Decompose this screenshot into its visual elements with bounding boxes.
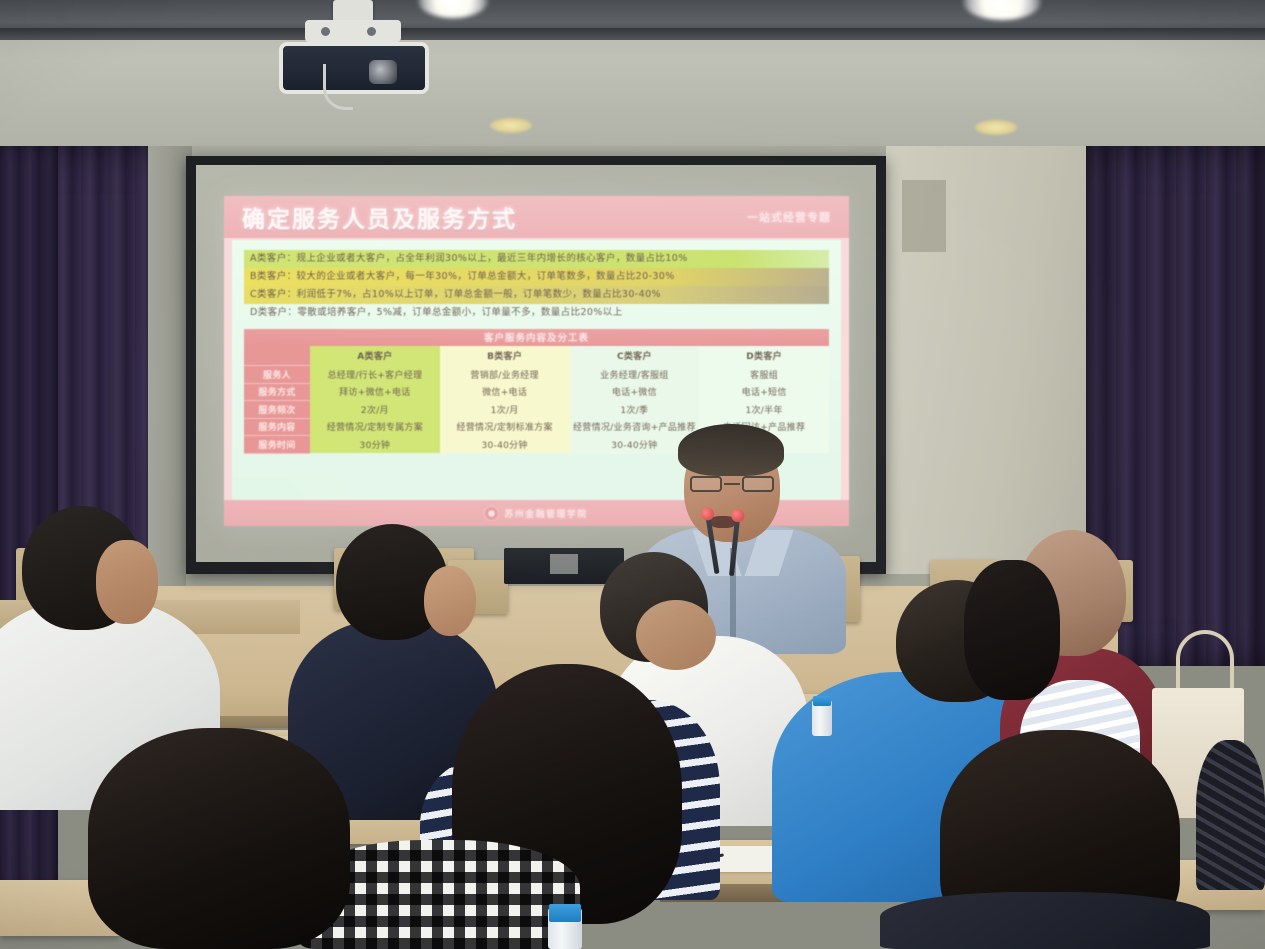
table-row-label: 服务时间	[244, 436, 310, 454]
attendee-white-striped-head	[964, 560, 1060, 700]
attendee-checkered-head	[88, 728, 350, 949]
slide-bullet: A类客户：规上企业或者大客户，占全年利润30%以上，最近三年内增长的核心客户，数…	[244, 250, 829, 268]
slide-bullet: C类客户：利润低于7%，占10%以上订单，订单总金额一般，订单笔数少，数量占比3…	[244, 286, 829, 304]
table-cell: 30-40分钟	[440, 436, 570, 454]
attendee-white-shirt-arm	[636, 600, 716, 670]
table-cell: 经营情况/定制标准方案	[440, 418, 570, 436]
table-cell: 1次/半年	[699, 401, 829, 419]
table-cell: 电话+微信	[570, 383, 700, 401]
projector-body	[279, 42, 429, 94]
table-row-label: 服务方式	[244, 383, 310, 401]
table-cell: 拜访+微信+电话	[310, 383, 440, 401]
table-corner-cell	[244, 346, 310, 366]
table-cell: 微信+电话	[440, 383, 570, 401]
projector-mount	[333, 0, 373, 22]
recessed-downlight	[975, 120, 1017, 135]
slide-bullet: D类客户：零散或培养客户，5%减，订单总金额小，订单量不多，数量占比20%以上	[244, 304, 829, 322]
presenter-hair	[678, 424, 784, 476]
ceiling-beam	[0, 0, 1265, 40]
institute-seal-icon	[485, 507, 498, 520]
ceiling	[0, 0, 1265, 150]
recessed-downlight	[490, 118, 532, 133]
projector-arm	[305, 20, 401, 42]
table-row: 服务方式 拜访+微信+电话 微信+电话 电话+微信 电话+短信	[244, 383, 829, 401]
table-row: 服务人 总经理/行长+客户经理 营销部/业务经理 业务经理/客服组 客服组	[244, 366, 829, 384]
table-column-header: D类客户	[699, 346, 829, 366]
table-column-header: B类客户	[440, 346, 570, 366]
projector-lens	[369, 60, 397, 84]
slide-table-caption: 客户服务内容及分工表	[244, 329, 829, 346]
eyeglasses-icon	[690, 476, 774, 493]
table-cell: 1次/月	[440, 401, 570, 419]
table-cell: 经营情况/定制专属方案	[310, 418, 440, 436]
tote-bag-handle	[1176, 630, 1234, 688]
slide-bullet: B类客户：较大的企业或者大客户，每一年30%，订单总金额大，订单笔数多，数量占比…	[244, 268, 829, 286]
attendee-dark-foreground-body	[880, 892, 1210, 949]
table-column-header: C类客户	[570, 346, 700, 366]
table-cell: 电话+短信	[699, 383, 829, 401]
slide-title-bar: 确定服务人员及服务方式 一站式经营专题	[224, 196, 849, 238]
table-row: 服务频次 2次/月 1次/月 1次/季 1次/半年	[244, 401, 829, 419]
lecture-hall-photo: 确定服务人员及服务方式 一站式经营专题 A类客户：规上企业或者大客户，占全年利润…	[0, 0, 1265, 949]
table-column-header: A类客户	[310, 346, 440, 366]
table-cell: 1次/季	[570, 401, 700, 419]
slide-bullet-list: A类客户：规上企业或者大客户，占全年利润30%以上，最近三年内增长的核心客户，数…	[244, 250, 829, 322]
water-bottle-cap	[813, 696, 831, 706]
table-header-row: A类客户 B类客户 C类客户 D类客户	[244, 346, 829, 366]
water-bottle-cap	[549, 904, 581, 922]
table-cell: 营销部/业务经理	[440, 366, 570, 384]
attendee-dark-right-body	[1196, 740, 1265, 890]
slide-title: 确定服务人员及服务方式	[242, 200, 517, 234]
attendee-white-tshirt-face	[96, 540, 158, 624]
table-row-label: 服务内容	[244, 418, 310, 436]
table-cell: 业务经理/客服组	[570, 366, 700, 384]
slide-brand-tag: 一站式经营专题	[747, 209, 831, 225]
table-row-label: 服务人	[244, 366, 310, 384]
attendee-dark-blazer-face	[424, 566, 476, 636]
table-cell: 2次/月	[310, 401, 440, 419]
table-cell: 总经理/行长+客户经理	[310, 366, 440, 384]
front-monitor	[504, 548, 624, 584]
slide-footer-text: 苏州金融管理学院	[504, 507, 587, 520]
table-cell: 客服组	[699, 366, 829, 384]
wall-panel	[902, 180, 946, 252]
table-row-label: 服务频次	[244, 401, 310, 419]
table-cell: 30分钟	[310, 436, 440, 454]
ceiling-projector	[275, 6, 435, 98]
